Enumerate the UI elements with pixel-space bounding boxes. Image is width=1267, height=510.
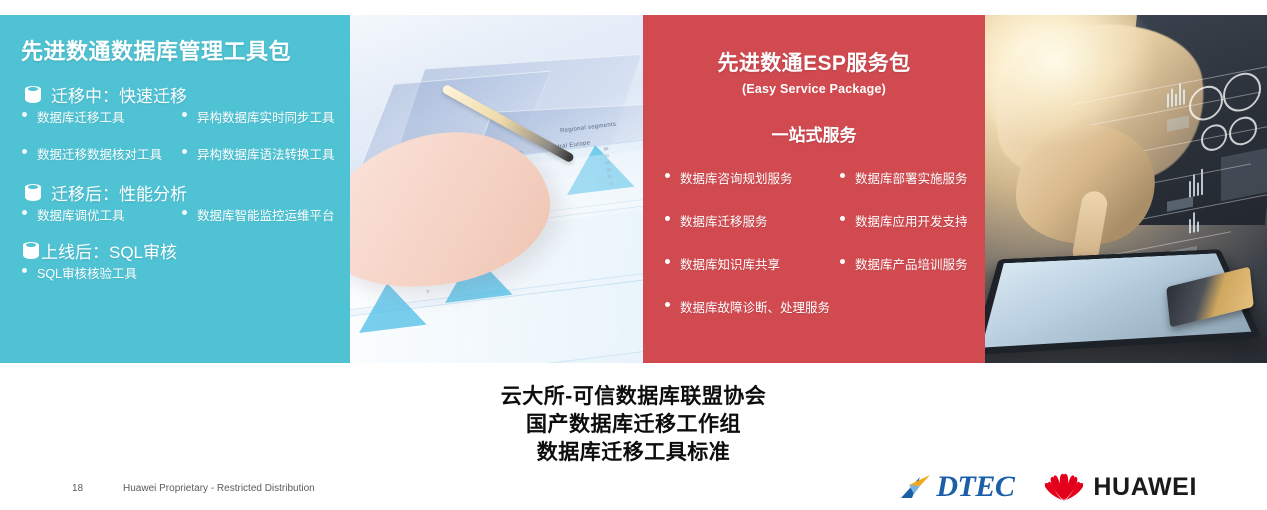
confidentiality-note: Huawei Proprietary - Restricted Distribu… — [123, 483, 315, 494]
database-icon — [24, 183, 42, 203]
red-panel-title: 先进数通ESP服务包 — [653, 47, 975, 77]
teal-section-heading-migrating: 迁移中：快速迁移 — [24, 82, 338, 107]
photo-area-chart-peak — [353, 279, 426, 333]
list-item: 数据库迁移工具 — [22, 107, 182, 126]
panel-database-toolkit: 先进数通数据库管理工具包 迁移中：快速迁移 数据库迁移工具 异构数据库实时同步工… — [0, 15, 350, 363]
dtec-mark-icon — [900, 474, 934, 500]
banner-strip: Regional segments Central Europe East Eu… — [0, 15, 1267, 363]
list-item: 数据库咨询规划服务 — [665, 168, 840, 187]
list-item: 数据库部署实施服务 — [840, 168, 975, 187]
list-item: 数据库调优工具 — [22, 205, 182, 224]
photo-finger-tablet — [985, 15, 1267, 363]
dtec-wordmark: DTEC — [936, 470, 1014, 504]
teal-bullet-list-after-migration: 数据库调优工具 数据库智能监控运维平台 — [22, 205, 338, 224]
list-item: SQL审核核验工具 — [22, 263, 338, 282]
list-item: 数据库故障诊断、处理服务 — [665, 297, 975, 316]
list-item: 数据库应用开发支持 — [840, 211, 975, 230]
red-panel-title-en: (Easy Service Package) — [653, 82, 975, 96]
list-item: 数据库智能监控运维平台 — [182, 205, 338, 224]
red-panel-subtitle: 一站式服务 — [653, 121, 975, 146]
caption-line-2: 国产数据库迁移工作组 — [0, 411, 1267, 439]
panel-esp-service: 先进数通ESP服务包 (Easy Service Package) 一站式服务 … — [643, 15, 985, 363]
photo-lens-glare — [985, 15, 1155, 145]
database-icon — [22, 241, 40, 261]
list-item: 异构数据库语法转换工具 — [182, 144, 338, 163]
logo-row: DTEC HUAWEI — [900, 470, 1197, 504]
caption-line-3: 数据库迁移工具标准 — [0, 439, 1267, 467]
list-item: 数据库知识库共享 — [665, 254, 840, 273]
page-number: 18 — [72, 483, 83, 494]
list-item: 异构数据库实时同步工具 — [182, 107, 338, 126]
teal-section-heading-label: 迁移中：快速迁移 — [51, 82, 187, 107]
huawei-wordmark: HUAWEI — [1093, 473, 1197, 502]
caption-line-1: 云大所-可信数据库联盟协会 — [0, 383, 1267, 411]
huawei-logo: HUAWEI — [1044, 472, 1197, 502]
teal-bullet-list-migrating: 数据库迁移工具 异构数据库实时同步工具 数据迁移数据核对工具 异构数据库语法转换… — [22, 107, 338, 163]
dtec-logo: DTEC — [900, 470, 1014, 504]
list-item: 数据库迁移服务 — [665, 211, 840, 230]
teal-bullet-list-after-launch: SQL审核核验工具 — [22, 263, 338, 282]
database-icon — [24, 85, 42, 105]
teal-section-heading-label: 迁移后：性能分析 — [51, 180, 187, 205]
photo-analytics-hand-writing: Regional segments Central Europe East Eu… — [350, 15, 650, 363]
huawei-flower-icon — [1044, 472, 1084, 502]
teal-section-heading-after-migration: 迁移后：性能分析 — [24, 180, 338, 205]
teal-section-heading-after-launch: 上线后：SQL审核 — [22, 238, 338, 263]
red-bullet-list: 数据库咨询规划服务 数据库部署实施服务 数据库迁移服务 数据库应用开发支持 数据… — [665, 168, 975, 316]
teal-section-heading-label: 上线后：SQL审核 — [41, 238, 177, 263]
slide-caption: 云大所-可信数据库联盟协会 国产数据库迁移工作组 数据库迁移工具标准 — [0, 383, 1267, 467]
teal-panel-title: 先进数通数据库管理工具包 — [21, 39, 338, 65]
list-item: 数据库产品培训服务 — [840, 254, 975, 273]
list-item: 数据迁移数据核对工具 — [22, 144, 182, 163]
